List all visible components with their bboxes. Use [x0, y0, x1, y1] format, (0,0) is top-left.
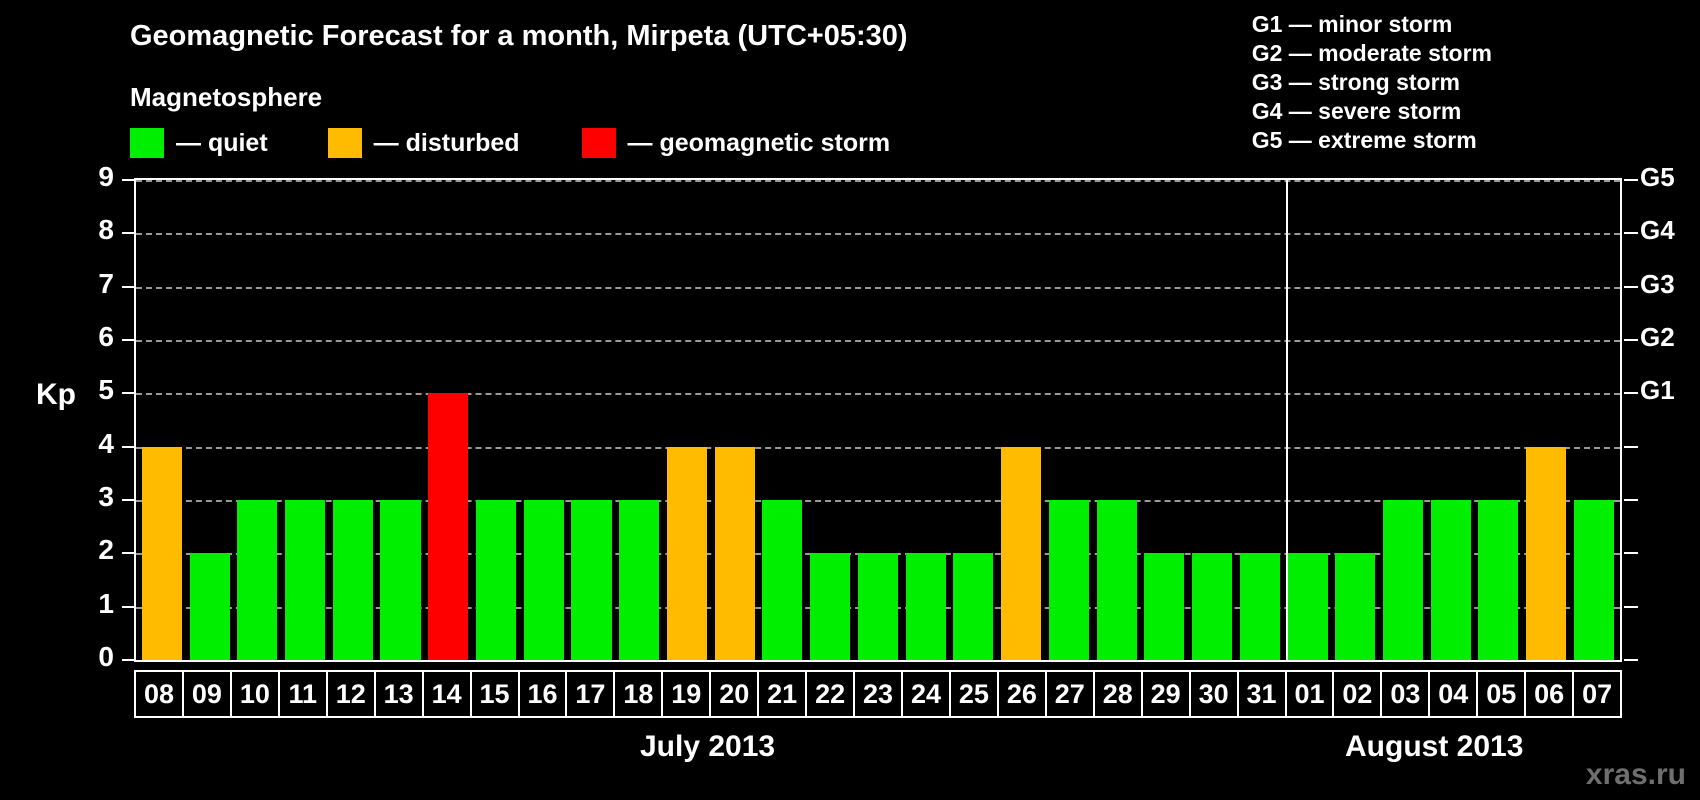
date-label[interactable]: 21	[757, 670, 807, 718]
bar-cell[interactable]	[663, 180, 711, 660]
date-label[interactable]: 12	[326, 670, 376, 718]
g-axis-tick-G4: G4	[1640, 215, 1696, 246]
bar	[667, 447, 707, 660]
bar	[1574, 500, 1614, 660]
y-axis-tickmark-3	[122, 499, 136, 501]
bar-cell[interactable]	[1570, 180, 1618, 660]
g-axis-tickmark-G5	[1624, 179, 1638, 181]
bar-cell[interactable]	[997, 180, 1045, 660]
watermark: xras.ru	[1586, 758, 1686, 792]
bar-cell[interactable]	[186, 180, 234, 660]
bar-cell[interactable]	[329, 180, 377, 660]
date-label[interactable]: 06	[1524, 670, 1574, 718]
bar-cell[interactable]	[472, 180, 520, 660]
y-axis-tickmark-5	[122, 392, 136, 394]
legend-label-quiet: — quiet	[176, 129, 268, 158]
bar-cell[interactable]	[1188, 180, 1236, 660]
bar	[476, 500, 516, 660]
date-label[interactable]: 19	[661, 670, 711, 718]
date-label[interactable]: 03	[1380, 670, 1430, 718]
legend-swatch-quiet	[130, 128, 164, 158]
bar-cell[interactable]	[377, 180, 425, 660]
bar	[1097, 500, 1137, 660]
y-axis-tickmark-0	[122, 659, 136, 661]
date-label[interactable]: 22	[805, 670, 855, 718]
bar-cell[interactable]	[424, 180, 472, 660]
legend-item-storm: — geomagnetic storm	[582, 128, 891, 158]
date-label[interactable]: 14	[422, 670, 472, 718]
y-axis-tick-2: 2	[74, 534, 114, 566]
bar-cell[interactable]	[806, 180, 854, 660]
y-axis-tickmark-1	[122, 606, 136, 608]
date-label[interactable]: 17	[565, 670, 615, 718]
plot-area	[134, 178, 1622, 662]
bar	[953, 553, 993, 660]
bar	[571, 500, 611, 660]
date-label[interactable]: 20	[709, 670, 759, 718]
g-axis-tickmark-G3	[1624, 286, 1638, 288]
storm-scale-g3: G3 — strong storm	[1252, 68, 1492, 97]
bar	[285, 500, 325, 660]
y-axis-tickmark-7	[122, 286, 136, 288]
right-axis-tickmark-0	[1624, 659, 1638, 661]
legend-swatch-storm	[582, 128, 616, 158]
month-caption-august: August 2013	[1345, 730, 1523, 764]
g-axis-tick-G3: G3	[1640, 269, 1696, 300]
legend-swatch-disturbed	[328, 128, 362, 158]
bar	[142, 447, 182, 660]
bar-cell[interactable]	[1284, 180, 1332, 660]
y-axis-tick-3: 3	[74, 481, 114, 513]
bar	[1383, 500, 1423, 660]
y-axis-tickmark-8	[122, 232, 136, 234]
bars-container	[136, 180, 1620, 660]
month-caption-july: July 2013	[640, 730, 775, 764]
bar-cell[interactable]	[1093, 180, 1141, 660]
g-axis-tickmark-G4	[1624, 232, 1638, 234]
date-label[interactable]: 01	[1285, 670, 1335, 718]
right-axis-tickmark-1	[1624, 606, 1638, 608]
date-label[interactable]: 24	[901, 670, 951, 718]
bar	[1478, 500, 1518, 660]
page-title: Geomagnetic Forecast for a month, Mirpet…	[130, 20, 908, 53]
date-label[interactable]: 05	[1476, 670, 1526, 718]
date-label[interactable]: 11	[278, 670, 328, 718]
bar	[1431, 500, 1471, 660]
legend-item-disturbed: — disturbed	[328, 128, 520, 158]
bar-cell[interactable]	[1475, 180, 1523, 660]
g-axis-tick-G5: G5	[1640, 162, 1696, 193]
bar	[428, 393, 468, 660]
bar-cell[interactable]	[711, 180, 759, 660]
y-axis-tickmark-4	[122, 446, 136, 448]
date-label[interactable]: 07	[1572, 670, 1622, 718]
date-label[interactable]: 02	[1332, 670, 1382, 718]
date-label[interactable]: 18	[613, 670, 663, 718]
bar-cell[interactable]	[281, 180, 329, 660]
y-axis-tick-6: 6	[74, 321, 114, 353]
g-axis-tickmark-G1	[1624, 392, 1638, 394]
y-axis-tick-0: 0	[74, 641, 114, 673]
legend-item-quiet: — quiet	[130, 128, 268, 158]
date-label[interactable]: 23	[853, 670, 903, 718]
date-label[interactable]: 04	[1428, 670, 1478, 718]
bar-cell[interactable]	[1236, 180, 1284, 660]
date-label[interactable]: 25	[949, 670, 999, 718]
y-axis-tickmark-6	[122, 339, 136, 341]
bar-cell[interactable]	[1331, 180, 1379, 660]
right-axis-tickmark-2	[1624, 552, 1638, 554]
bar-cell[interactable]	[138, 180, 186, 660]
storm-scale-g4: G4 — severe storm	[1252, 97, 1492, 126]
y-axis-tickmark-2	[122, 552, 136, 554]
date-label[interactable]: 09	[182, 670, 232, 718]
legend: — quiet — disturbed — geomagnetic storm	[130, 128, 890, 158]
date-label[interactable]: 30	[1189, 670, 1239, 718]
right-axis-tickmark-4	[1624, 446, 1638, 448]
y-axis-tick-1: 1	[74, 588, 114, 620]
bar-cell[interactable]	[902, 180, 950, 660]
bar-cell[interactable]	[1522, 180, 1570, 660]
bar	[619, 500, 659, 660]
bar	[237, 500, 277, 660]
storm-scale-g5: G5 — extreme storm	[1252, 126, 1492, 155]
g-axis-tick-G2: G2	[1640, 322, 1696, 353]
bar	[762, 500, 802, 660]
date-label[interactable]: 13	[374, 670, 424, 718]
right-axis-tickmark-3	[1624, 499, 1638, 501]
bar	[524, 500, 564, 660]
storm-scale-g2: G2 — moderate storm	[1252, 39, 1492, 68]
bar-cell[interactable]	[1379, 180, 1427, 660]
y-axis-tick-8: 8	[74, 214, 114, 246]
bar	[1192, 553, 1232, 660]
bar-cell[interactable]	[1140, 180, 1188, 660]
bar	[190, 553, 230, 660]
bar	[1526, 447, 1566, 660]
y-axis-tick-9: 9	[74, 161, 114, 193]
bar	[906, 553, 946, 660]
date-label[interactable]: 28	[1093, 670, 1143, 718]
date-label[interactable]: 27	[1045, 670, 1095, 718]
bar	[380, 500, 420, 660]
date-label[interactable]: 08	[134, 670, 184, 718]
storm-scale-legend: G1 — minor storm G2 — moderate storm G3 …	[1252, 10, 1492, 155]
date-axis: 0809101112131415161718192021222324252627…	[134, 670, 1622, 718]
y-axis-tickmark-9	[122, 179, 136, 181]
date-label[interactable]: 26	[997, 670, 1047, 718]
g-axis-tickmark-G2	[1624, 339, 1638, 341]
date-label[interactable]: 29	[1141, 670, 1191, 718]
bar	[1287, 553, 1327, 660]
bar-cell[interactable]	[949, 180, 997, 660]
magnetosphere-heading: Magnetosphere	[130, 82, 322, 113]
bar	[858, 553, 898, 660]
date-label[interactable]: 15	[470, 670, 520, 718]
bar	[333, 500, 373, 660]
bar	[1144, 553, 1184, 660]
month-divider	[1286, 180, 1288, 660]
bar	[1001, 447, 1041, 660]
y-axis-tick-4: 4	[74, 428, 114, 460]
bar-cell[interactable]	[233, 180, 281, 660]
bar	[810, 553, 850, 660]
y-axis-tick-7: 7	[74, 268, 114, 300]
legend-label-storm: — geomagnetic storm	[628, 129, 891, 158]
storm-scale-g1: G1 — minor storm	[1252, 10, 1492, 39]
bar-cell[interactable]	[520, 180, 568, 660]
bar	[1240, 553, 1280, 660]
bar	[715, 447, 755, 660]
bar-cell[interactable]	[1045, 180, 1093, 660]
y-axis-label: Kp	[36, 378, 76, 412]
g-axis-tick-G1: G1	[1640, 375, 1696, 406]
bar-cell[interactable]	[568, 180, 616, 660]
bar-cell[interactable]	[615, 180, 663, 660]
bar-cell[interactable]	[1427, 180, 1475, 660]
date-label[interactable]: 10	[230, 670, 280, 718]
bar	[1049, 500, 1089, 660]
date-label[interactable]: 31	[1237, 670, 1287, 718]
legend-label-disturbed: — disturbed	[374, 129, 520, 158]
geomagnetic-forecast-chart: Geomagnetic Forecast for a month, Mirpet…	[0, 0, 1700, 800]
bar-cell[interactable]	[854, 180, 902, 660]
bar-cell[interactable]	[759, 180, 807, 660]
date-label[interactable]: 16	[518, 670, 568, 718]
bar	[1335, 553, 1375, 660]
y-axis-tick-5: 5	[74, 374, 114, 406]
